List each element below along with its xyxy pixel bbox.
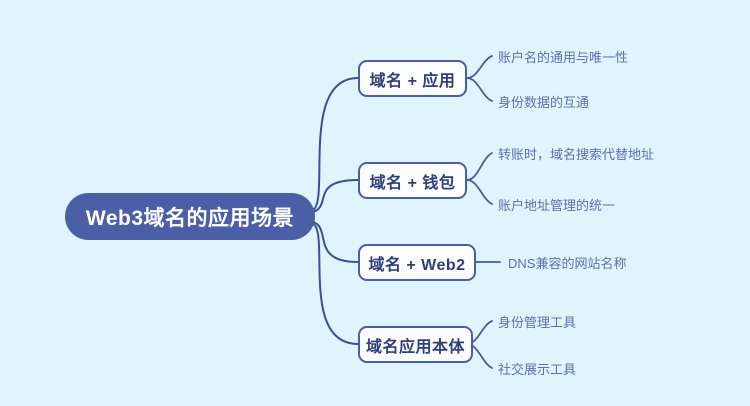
leaf-label-1-2[interactable]: 身份数据的互通 [498,96,589,109]
branch-node-1-label: 域名 + 应用 [370,67,456,91]
leaf-label-2-1[interactable]: 转账时，域名搜索代替地址 [498,148,654,161]
branch-node-3-label: 域名 + Web2 [368,251,465,275]
connector-branch-1-leaf-1 [467,56,492,78]
leaf-label-4-1[interactable]: 身份管理工具 [498,316,576,329]
root-node[interactable]: Web3域名的应用场景 [65,193,315,240]
branch-node-2[interactable]: 域名 + 钱包 [358,162,467,199]
branch-node-1[interactable]: 域名 + 应用 [358,60,467,97]
connector-root-to-branch-4 [313,224,358,344]
connector-branch-1-leaf-2 [467,78,492,101]
connector-branch-2-leaf-2 [467,180,492,204]
connector-root-to-branch-1 [313,78,358,210]
leaf-label-4-2[interactable]: 社交展示工具 [498,363,576,376]
branch-node-4-label: 域名应用本体 [366,333,465,357]
branch-node-4[interactable]: 域名应用本体 [358,326,473,363]
branch-node-2-label: 域名 + 钱包 [370,169,456,193]
leaf-label-1-1[interactable]: 账户名的通用与唯一性 [498,51,628,64]
mindmap-canvas: Web3域名的应用场景 域名 + 应用 域名 + 钱包 域名 + Web2 域名… [0,0,750,406]
root-node-label: Web3域名的应用场景 [86,202,294,232]
leaf-label-3-1[interactable]: DNS兼容的网站名称 [508,257,626,270]
connector-branch-2-leaf-1 [467,153,492,180]
branch-node-3[interactable]: 域名 + Web2 [358,244,476,281]
leaf-label-2-2[interactable]: 账户地址管理的统一 [498,199,615,212]
